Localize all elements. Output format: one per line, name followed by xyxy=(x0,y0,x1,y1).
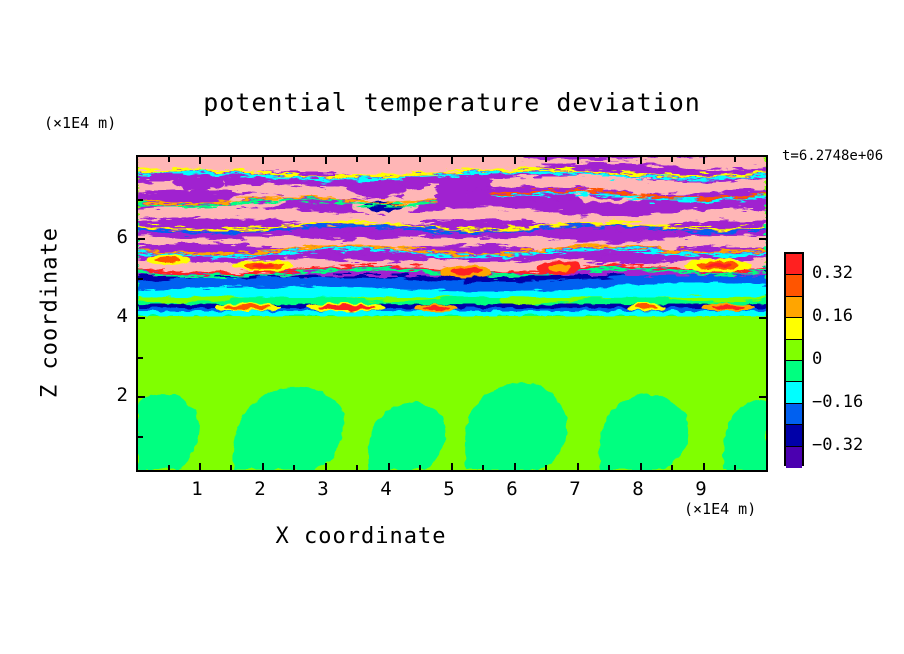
x-tick xyxy=(325,463,327,470)
x-axis-unit-label: (×1E4 m) xyxy=(684,500,756,518)
colorbar-tick-label: −0.32 xyxy=(812,435,863,455)
colorbar-band xyxy=(786,382,802,403)
time-annotation: t=6.2748e+06 xyxy=(782,148,883,164)
y-tick xyxy=(138,238,145,240)
x-tick-label: 4 xyxy=(366,478,406,500)
colorbar-tick-label: 0.16 xyxy=(812,306,853,326)
x-tick xyxy=(640,463,642,470)
x-tick-minor xyxy=(545,465,547,470)
x-tick-label: 6 xyxy=(492,478,532,500)
colorbar-band xyxy=(786,340,802,361)
y-tick-minor xyxy=(138,199,143,201)
colorbar-tick-label: −0.16 xyxy=(812,392,863,412)
x-tick-top-minor xyxy=(419,157,421,162)
x-tick xyxy=(199,463,201,470)
x-tick-label: 5 xyxy=(429,478,469,500)
x-tick-top-minor xyxy=(608,157,610,162)
x-tick-minor xyxy=(482,465,484,470)
colorbar-tick-label: 0 xyxy=(812,349,822,369)
colorbar-band xyxy=(786,447,802,468)
colorbar-band xyxy=(786,318,802,339)
x-tick-label: 7 xyxy=(555,478,595,500)
y-tick-label: 2 xyxy=(98,384,128,406)
x-tick xyxy=(451,463,453,470)
contour-field xyxy=(138,157,766,470)
x-tick-top xyxy=(388,157,390,164)
colorbar xyxy=(784,252,804,466)
x-tick-label: 8 xyxy=(618,478,658,500)
y-axis-title: Z coordinate xyxy=(38,203,63,423)
colorbar-band xyxy=(786,404,802,425)
y-tick-right xyxy=(759,396,766,398)
x-tick-label: 1 xyxy=(177,478,217,500)
x-tick-minor xyxy=(230,465,232,470)
y-tick xyxy=(138,317,145,319)
x-tick-minor xyxy=(734,465,736,470)
x-tick-minor xyxy=(419,465,421,470)
x-tick-minor xyxy=(293,465,295,470)
x-tick-minor xyxy=(671,465,673,470)
x-tick-top-minor xyxy=(482,157,484,162)
x-tick-top xyxy=(640,157,642,164)
x-tick-top xyxy=(703,157,705,164)
x-tick xyxy=(703,463,705,470)
y-tick-minor xyxy=(138,357,143,359)
x-tick-top-minor xyxy=(293,157,295,162)
x-tick-top xyxy=(514,157,516,164)
y-tick-right xyxy=(759,238,766,240)
x-tick-top xyxy=(451,157,453,164)
colorbar-band xyxy=(786,254,802,275)
x-tick-top xyxy=(325,157,327,164)
y-axis-unit-label: (×1E4 m) xyxy=(44,114,116,132)
colorbar-band xyxy=(786,425,802,446)
y-tick-minor xyxy=(138,278,143,280)
y-tick-label: 4 xyxy=(98,305,128,327)
x-tick-label: 3 xyxy=(303,478,343,500)
x-tick-top-minor xyxy=(734,157,736,162)
x-tick-minor xyxy=(356,465,358,470)
colorbar-tick-label: 0.32 xyxy=(812,263,853,283)
x-tick xyxy=(514,463,516,470)
x-tick-label: 2 xyxy=(240,478,280,500)
x-axis-title: X coordinate xyxy=(0,524,722,549)
page-title: potential temperature deviation xyxy=(0,88,904,117)
x-tick-top-minor xyxy=(545,157,547,162)
y-tick xyxy=(138,396,145,398)
x-tick-top xyxy=(199,157,201,164)
colorbar-band xyxy=(786,275,802,296)
x-tick-top xyxy=(577,157,579,164)
colorbar-band xyxy=(786,297,802,318)
y-tick-minor xyxy=(138,436,143,438)
x-tick-top-minor xyxy=(356,157,358,162)
x-tick-minor xyxy=(168,465,170,470)
x-tick-minor xyxy=(608,465,610,470)
x-tick xyxy=(262,463,264,470)
y-tick-label: 6 xyxy=(98,226,128,248)
colorbar-band xyxy=(786,361,802,382)
x-tick-top-minor xyxy=(230,157,232,162)
x-tick-top xyxy=(262,157,264,164)
x-tick-label: 9 xyxy=(681,478,721,500)
x-tick xyxy=(388,463,390,470)
x-tick xyxy=(577,463,579,470)
figure-canvas: potential temperature deviation (×1E4 m)… xyxy=(0,0,904,654)
x-tick-top-minor xyxy=(671,157,673,162)
y-tick-right xyxy=(759,317,766,319)
x-tick-top-minor xyxy=(168,157,170,162)
contour-plot-area xyxy=(136,155,768,472)
